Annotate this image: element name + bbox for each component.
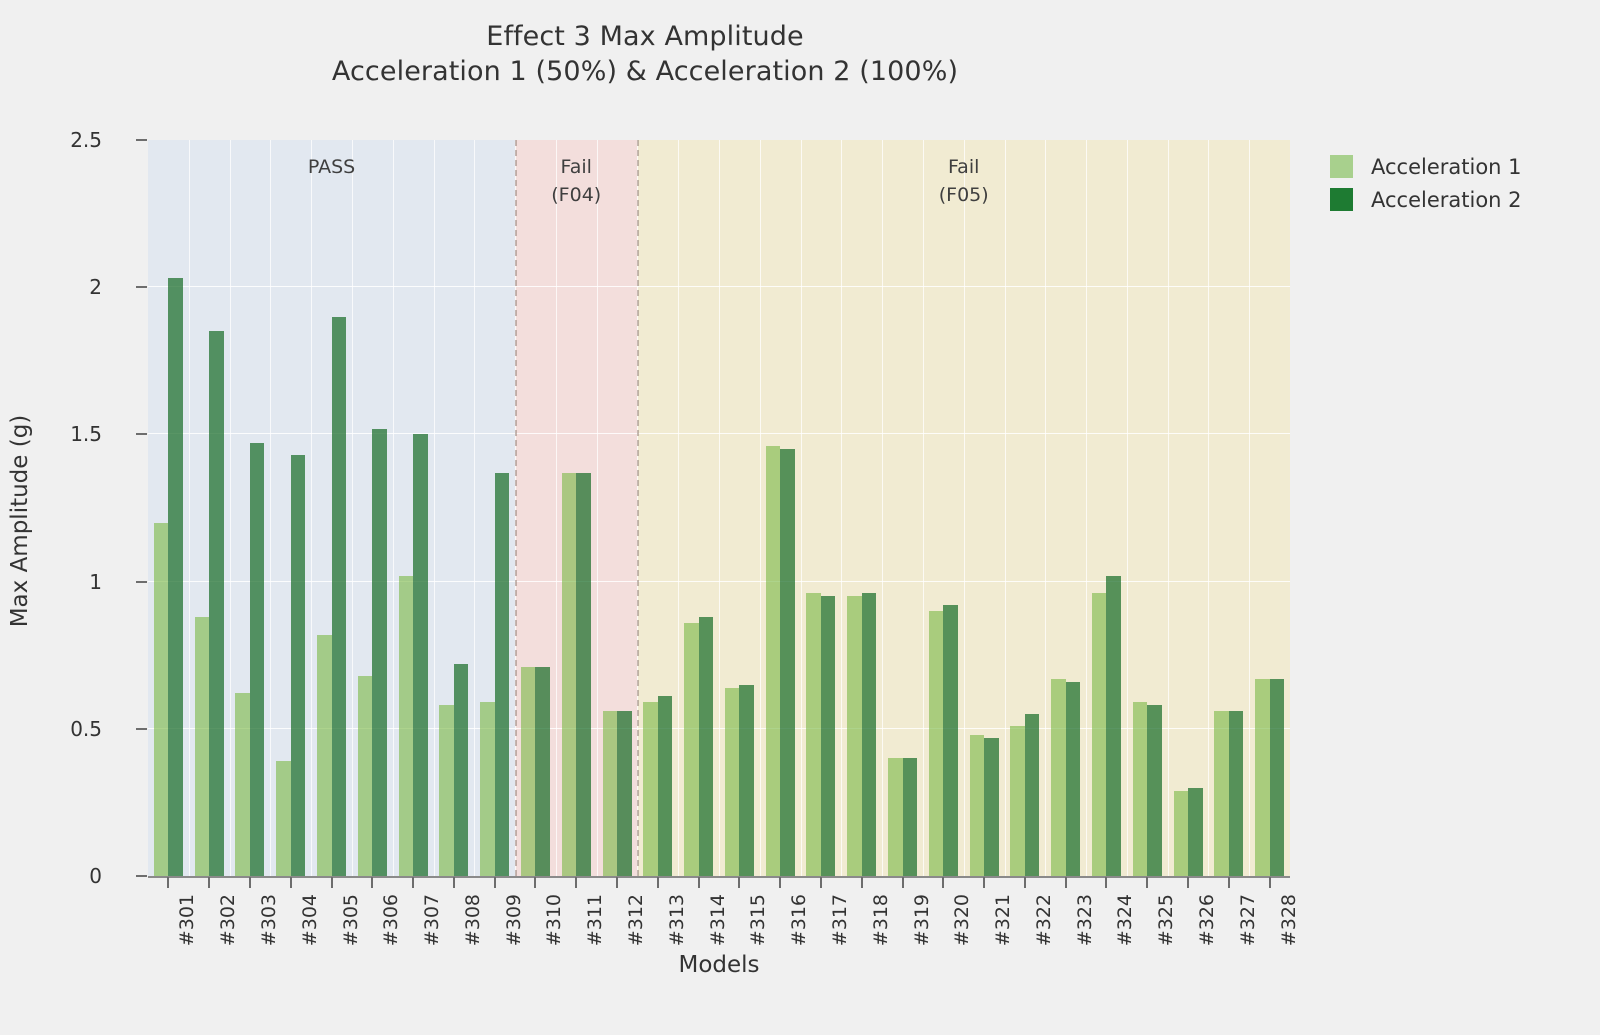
bar — [209, 331, 223, 876]
bar — [821, 596, 835, 876]
bar — [576, 473, 590, 876]
bar — [1255, 679, 1269, 876]
bar — [1270, 679, 1284, 876]
x-axis-tick-label: #318 — [870, 894, 892, 946]
y-axis-tick-mark — [136, 139, 147, 141]
x-axis-tick-label: #305 — [340, 894, 362, 946]
legend-label-acceleration-1: Acceleration 1 — [1371, 155, 1522, 179]
gridline-vertical — [678, 140, 679, 876]
gridline-vertical — [434, 140, 435, 876]
x-axis-tick-label: #316 — [788, 894, 810, 946]
bar — [984, 738, 998, 876]
y-axis-tick-label: 2 — [89, 275, 102, 299]
x-axis-tick-label: #319 — [911, 894, 933, 946]
bar — [1174, 791, 1188, 876]
gridline-vertical — [270, 140, 271, 876]
bar — [888, 758, 902, 876]
bar — [276, 761, 290, 876]
y-axis-tick-mark — [136, 875, 147, 877]
gridline-vertical — [1005, 140, 1006, 876]
x-axis-tick-label: #320 — [951, 894, 973, 946]
bar — [317, 635, 331, 876]
bar — [929, 611, 943, 876]
x-axis-tick-label: #323 — [1074, 894, 1096, 946]
x-axis-tick-label: #302 — [217, 894, 239, 946]
bar — [1106, 576, 1120, 876]
x-axis-tick-mark — [861, 877, 863, 888]
bar — [1229, 711, 1243, 876]
x-axis-tick-label: #304 — [299, 894, 321, 946]
bar — [413, 434, 427, 876]
gridline-vertical — [923, 140, 924, 876]
legend-swatch-acceleration-1 — [1330, 155, 1353, 178]
gridline-vertical — [393, 140, 394, 876]
bar — [454, 664, 468, 876]
bar — [1214, 711, 1228, 876]
x-axis-tick-label: #314 — [707, 894, 729, 946]
gridline-vertical — [1127, 140, 1128, 876]
y-axis: 00.511.522.5 Max Amplitude (g) — [0, 0, 142, 1035]
y-axis-tick-label: 1.5 — [70, 422, 102, 446]
x-axis-tick-mark — [738, 877, 740, 888]
bar — [332, 317, 346, 876]
x-axis-tick-mark — [820, 877, 822, 888]
chart-figure: Effect 3 Max Amplitude Acceleration 1 (5… — [0, 0, 1600, 1035]
y-axis-tick-label: 0 — [89, 864, 102, 888]
bar — [399, 576, 413, 876]
x-axis-tick-label: #321 — [992, 894, 1014, 946]
x-axis-tick-label: #324 — [1114, 894, 1136, 946]
gridline-vertical — [964, 140, 965, 876]
legend-item[interactable]: Acceleration 1 — [1330, 150, 1522, 183]
bar — [1066, 682, 1080, 876]
region-divider — [515, 140, 517, 876]
x-axis-tick-mark — [453, 877, 455, 888]
bar — [1051, 679, 1065, 876]
bar — [766, 446, 780, 876]
x-axis-tick-mark — [249, 877, 251, 888]
bar — [495, 473, 509, 876]
bar — [480, 702, 494, 876]
gridline-vertical — [352, 140, 353, 876]
y-axis-tick-mark — [136, 286, 147, 288]
bar — [903, 758, 917, 876]
bar — [699, 617, 713, 876]
x-axis-tick-mark — [575, 877, 577, 888]
bar — [806, 593, 820, 876]
bar — [970, 735, 984, 876]
x-axis-tick-mark — [1105, 877, 1107, 888]
x-axis-tick-label: #313 — [666, 894, 688, 946]
bar — [250, 443, 264, 876]
x-axis-label: Models — [148, 952, 1290, 978]
bar — [562, 473, 576, 876]
bar — [291, 455, 305, 876]
x-axis-tick-label: #310 — [543, 894, 565, 946]
y-axis-tick-mark — [136, 728, 147, 730]
x-axis-tick-mark — [942, 877, 944, 888]
legend: Acceleration 1 Acceleration 2 — [1330, 150, 1522, 216]
x-axis-tick-mark — [331, 877, 333, 888]
bar — [195, 617, 209, 876]
gridline-vertical — [841, 140, 842, 876]
bar — [684, 623, 698, 876]
x-axis-tick-mark — [1187, 877, 1189, 888]
bar — [372, 429, 386, 876]
x-axis-tick-mark — [657, 877, 659, 888]
x-axis-tick-label: #306 — [380, 894, 402, 946]
gridline-vertical — [597, 140, 598, 876]
bar — [943, 605, 957, 876]
plot-area: PASSFail(F04)Fail(F05) — [148, 140, 1290, 876]
bar — [358, 676, 372, 876]
gridline-vertical — [801, 140, 802, 876]
x-axis-tick-mark — [412, 877, 414, 888]
x-axis-tick-label: #311 — [584, 894, 606, 946]
y-axis-tick-label: 1 — [89, 570, 102, 594]
x-axis-tick-mark — [1065, 877, 1067, 888]
x-axis-tick-mark — [902, 877, 904, 888]
gridline-vertical — [311, 140, 312, 876]
x-axis-tick-mark — [983, 877, 985, 888]
bar — [603, 711, 617, 876]
bar — [643, 702, 657, 876]
x-axis-tick-mark — [1228, 877, 1230, 888]
x-axis-tick-label: #303 — [258, 894, 280, 946]
bar — [617, 711, 631, 876]
x-axis-tick-mark — [1269, 877, 1271, 888]
x-axis-tick-mark — [1146, 877, 1148, 888]
y-axis-label: Max Amplitude (g) — [7, 311, 33, 731]
gridline-horizontal — [148, 433, 1290, 434]
y-axis-tick-mark — [136, 433, 147, 435]
chart-title-block: Effect 3 Max Amplitude Acceleration 1 (5… — [0, 20, 1290, 89]
bar — [535, 667, 549, 876]
gridline-vertical — [1045, 140, 1046, 876]
x-axis-tick-mark — [494, 877, 496, 888]
x-axis-tick-label: #301 — [176, 894, 198, 946]
bar — [780, 449, 794, 876]
bar — [235, 693, 249, 876]
gridline-vertical — [230, 140, 231, 876]
chart-title: Effect 3 Max Amplitude — [0, 20, 1290, 55]
x-axis-tick-label: #325 — [1155, 894, 1177, 946]
gridline-vertical — [556, 140, 557, 876]
bar — [439, 705, 453, 876]
bar — [658, 696, 672, 876]
region-divider — [637, 140, 639, 876]
x-axis-tick-mark — [534, 877, 536, 888]
gridline-vertical — [882, 140, 883, 876]
x-axis-tick-mark — [616, 877, 618, 888]
bar — [1188, 788, 1202, 876]
gridline-vertical — [1168, 140, 1169, 876]
x-axis-tick-label: #308 — [462, 894, 484, 946]
x-axis-tick-mark — [208, 877, 210, 888]
legend-swatch-acceleration-2 — [1330, 188, 1353, 211]
bar — [521, 667, 535, 876]
x-axis-tick-label: #328 — [1278, 894, 1300, 946]
chart-subtitle: Acceleration 1 (50%) & Acceleration 2 (1… — [0, 55, 1290, 90]
legend-item[interactable]: Acceleration 2 — [1330, 183, 1522, 216]
x-axis-tick-label: #309 — [503, 894, 525, 946]
x-axis-tick-label: #315 — [747, 894, 769, 946]
gridline-vertical — [474, 140, 475, 876]
x-axis-tick-label: #327 — [1237, 894, 1259, 946]
bar — [725, 688, 739, 876]
bar — [847, 596, 861, 876]
gridline-vertical — [189, 140, 190, 876]
x-axis-tick-mark — [167, 877, 169, 888]
x-axis-tick-label: #312 — [625, 894, 647, 946]
x-axis-tick-label: #317 — [829, 894, 851, 946]
x-axis-tick-label: #307 — [421, 894, 443, 946]
gridline-vertical — [1249, 140, 1250, 876]
y-axis-tick-mark — [136, 581, 147, 583]
gridline-vertical — [719, 140, 720, 876]
x-axis-tick-mark — [779, 877, 781, 888]
bar — [862, 593, 876, 876]
y-axis-tick-label: 0.5 — [70, 717, 102, 741]
bar — [1133, 702, 1147, 876]
bar — [1010, 726, 1024, 876]
gridline-horizontal — [148, 286, 1290, 287]
x-axis-line — [148, 876, 1290, 878]
x-axis-tick-mark — [698, 877, 700, 888]
x-axis-tick-mark — [290, 877, 292, 888]
gridline-vertical — [1086, 140, 1087, 876]
bar — [1092, 593, 1106, 876]
bar — [739, 685, 753, 876]
x-axis-tick-mark — [371, 877, 373, 888]
x-axis-tick-label: #322 — [1033, 894, 1055, 946]
y-axis-tick-label: 2.5 — [70, 128, 102, 152]
gridline-vertical — [1208, 140, 1209, 876]
gridline-vertical — [760, 140, 761, 876]
legend-label-acceleration-2: Acceleration 2 — [1371, 188, 1522, 212]
bar — [154, 523, 168, 876]
x-axis-tick-label: #326 — [1196, 894, 1218, 946]
bar — [1147, 705, 1161, 876]
x-axis-tick-mark — [1024, 877, 1026, 888]
bar — [168, 278, 182, 876]
bar — [1025, 714, 1039, 876]
